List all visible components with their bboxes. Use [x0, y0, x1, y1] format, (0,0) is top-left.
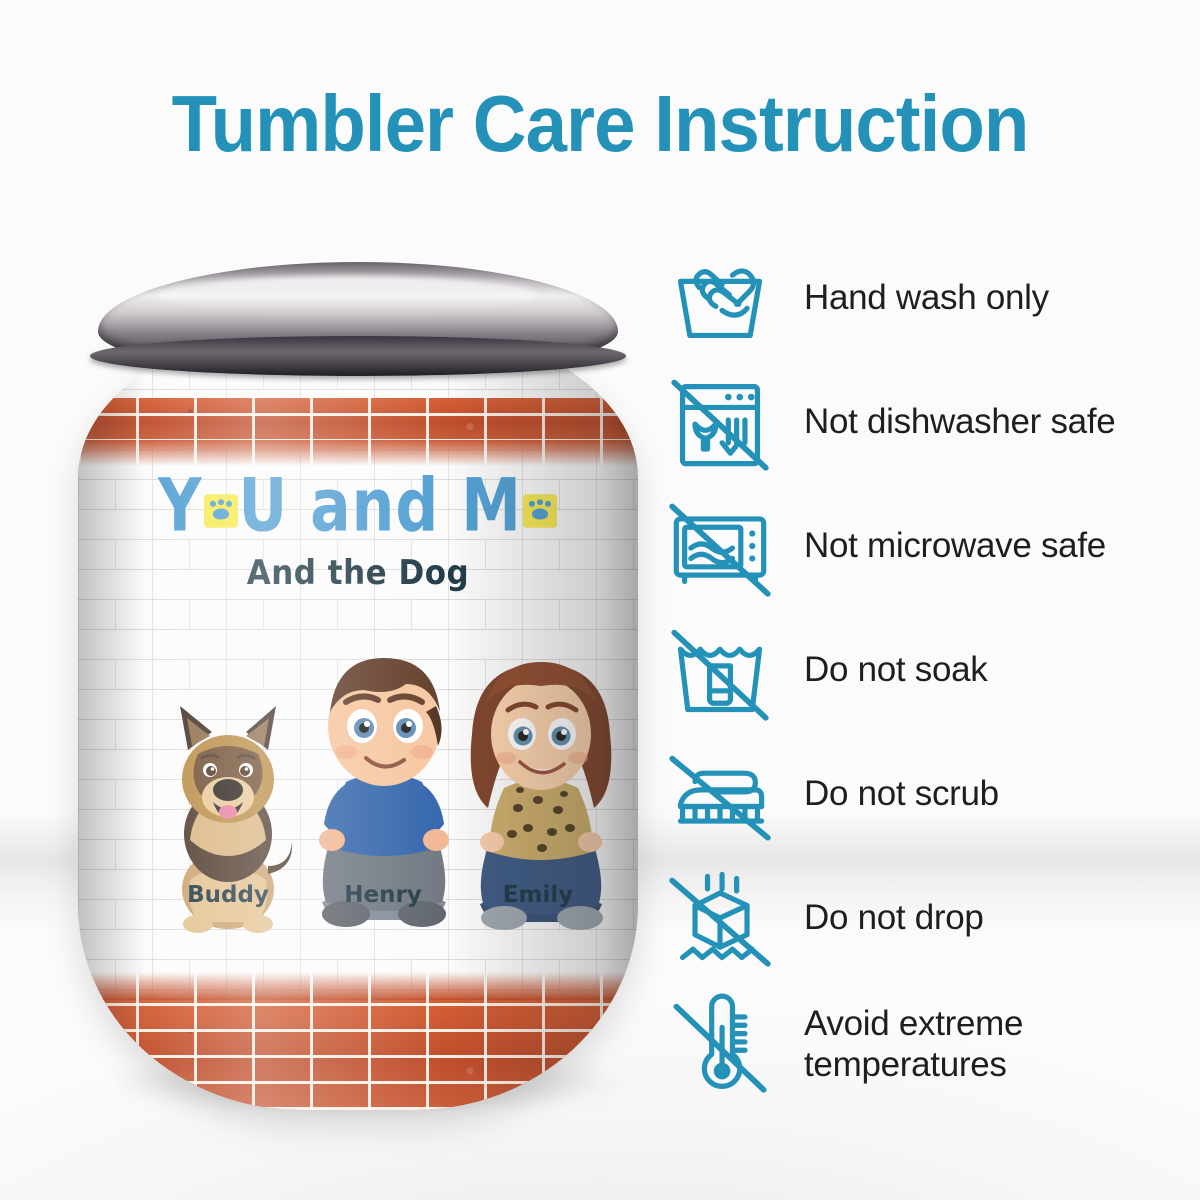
care-label-drop: Do not drop — [804, 897, 984, 938]
tumbler-logo: YU and M And the Dog — [78, 476, 638, 589]
red-brick-band-bottom — [78, 998, 638, 1110]
paw-print-icon-2 — [523, 494, 557, 528]
microwave-icon — [668, 494, 772, 598]
hand-wash-icon — [668, 246, 772, 350]
logo-text-main: U and M — [239, 469, 522, 542]
care-instruction-list: Hand wash only Not dishwasher safe — [668, 236, 1188, 1108]
page-title: Tumbler Care Instruction — [42, 78, 1158, 170]
character-name-2: Emily — [463, 882, 613, 908]
character-figures: Buddy Henry Emily — [78, 604, 638, 934]
logo-letter-y: Y — [158, 469, 202, 542]
falling-box-icon — [668, 866, 772, 970]
care-label-scrub: Do not scrub — [804, 773, 999, 814]
care-item-soak: Do not soak — [668, 608, 1188, 732]
care-label-temperature: Avoid extreme temperatures — [804, 1003, 1188, 1086]
character-name-0: Buddy — [158, 882, 298, 908]
care-label-dishwasher: Not dishwasher safe — [804, 401, 1115, 442]
care-item-hand-wash: Hand wash only — [668, 236, 1188, 360]
care-item-microwave: Not microwave safe — [668, 484, 1188, 608]
care-label-soak: Do not soak — [804, 649, 987, 690]
scrub-brush-icon — [668, 742, 772, 846]
care-item-scrub: Do not scrub — [668, 732, 1188, 856]
care-item-drop: Do not drop — [668, 856, 1188, 980]
logo-subtitle: And the Dog — [247, 556, 469, 590]
care-label-hand-wash: Hand wash only — [804, 277, 1049, 318]
paw-print-icon — [204, 494, 238, 528]
soak-basin-icon — [668, 618, 772, 722]
dishwasher-icon — [668, 370, 772, 474]
care-item-temperature: Avoid extreme temperatures — [668, 980, 1188, 1108]
care-instruction-card: Tumbler Care Instruction YU and M And th… — [0, 0, 1200, 1200]
care-label-microwave: Not microwave safe — [804, 525, 1106, 566]
care-item-dishwasher: Not dishwasher safe — [668, 360, 1188, 484]
thermometer-icon — [668, 992, 772, 1096]
character-names: Buddy Henry Emily — [78, 882, 638, 912]
character-name-1: Henry — [308, 882, 458, 908]
tumbler-artwork: YU and M And the Dog — [78, 442, 638, 998]
lid-highlight — [158, 276, 538, 314]
lid-rim — [90, 336, 626, 376]
tumbler-body: YU and M And the Dog — [78, 320, 638, 1110]
red-brick-band-top — [78, 398, 638, 442]
product-image: YU and M And the Dog — [60, 262, 670, 1122]
